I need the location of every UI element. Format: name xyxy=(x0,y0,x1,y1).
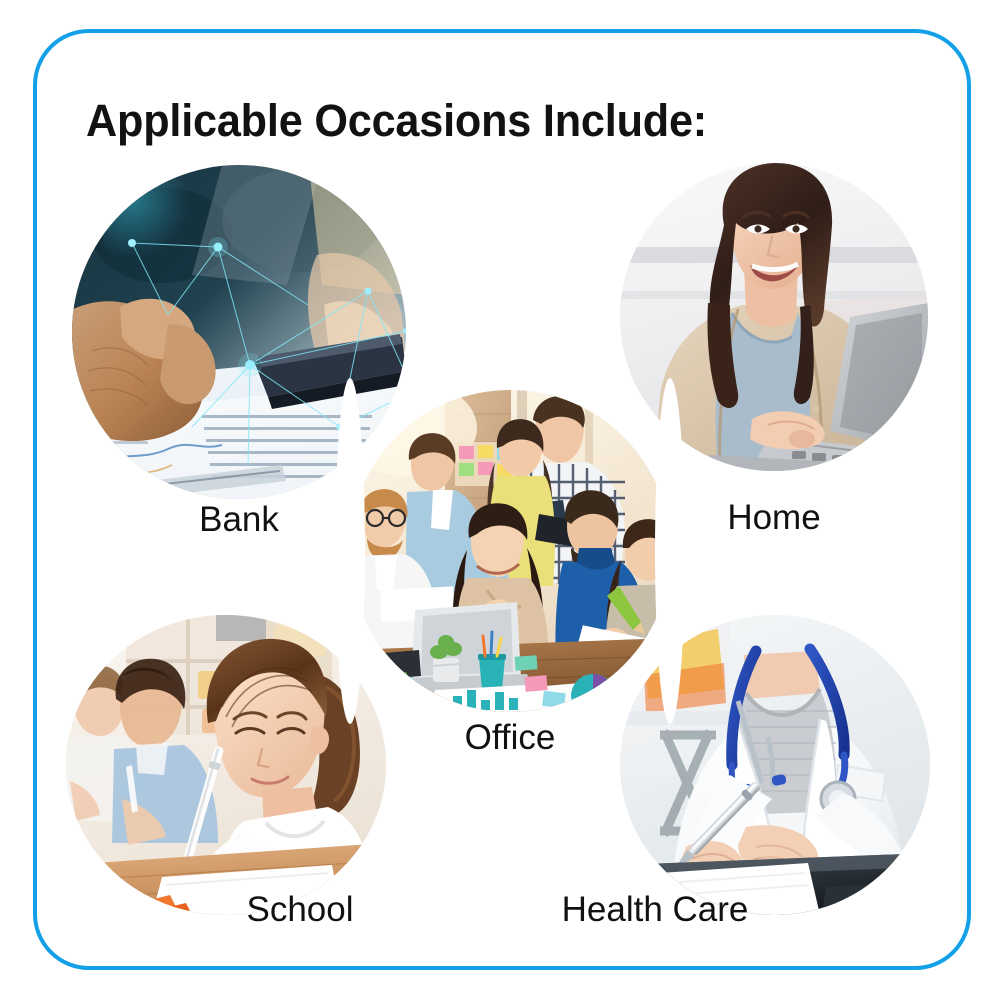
page-title: Applicable Occasions Include: xyxy=(86,95,707,147)
occasion-label-school: School xyxy=(180,890,420,930)
school-photo xyxy=(66,615,386,915)
health-care-photo xyxy=(620,615,930,915)
home-photo xyxy=(620,163,928,471)
occasion-label-health: Health Care xyxy=(470,890,840,930)
bank-photo xyxy=(72,165,406,499)
poster-canvas: Applicable Occasions Include: xyxy=(0,0,1000,1000)
office-photo xyxy=(349,390,671,712)
